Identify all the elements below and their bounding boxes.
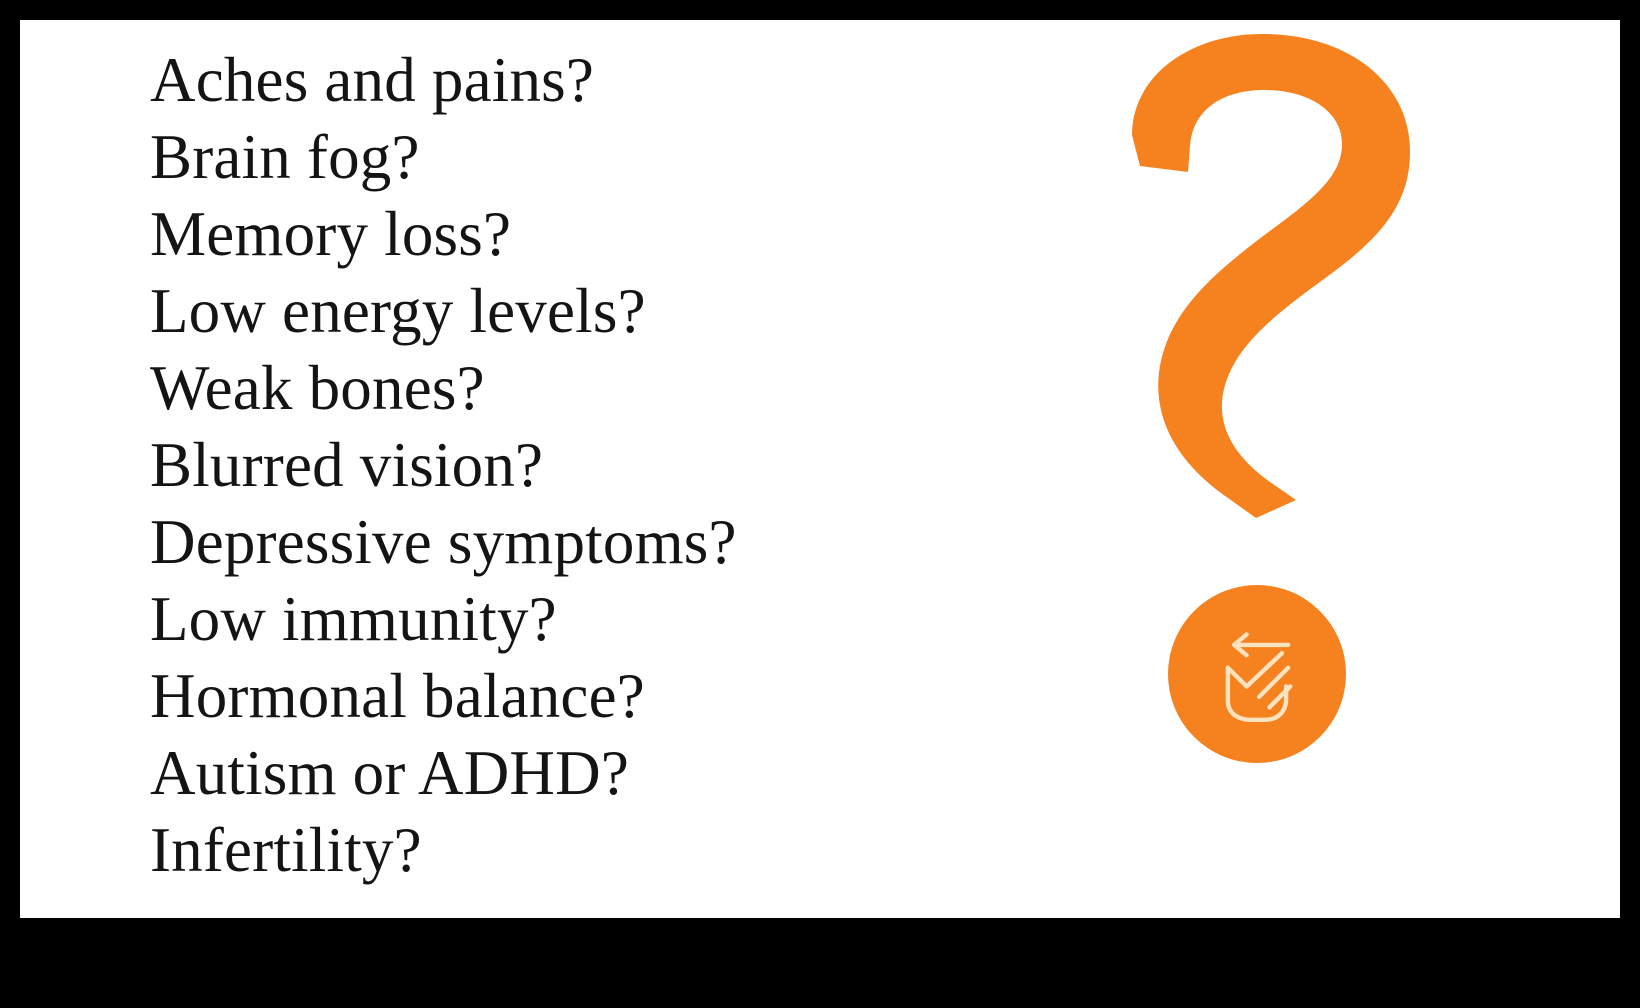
list-item: Infertility? xyxy=(150,812,850,889)
swipe-left-badge[interactable] xyxy=(1168,585,1346,763)
list-item: Blurred vision? xyxy=(150,427,850,504)
question-mark-icon xyxy=(1110,20,1440,520)
list-item: Low energy levels? xyxy=(150,273,850,350)
list-item: Aches and pains? xyxy=(150,42,850,119)
slide-frame: Aches and pains? Brain fog? Memory loss?… xyxy=(0,0,1640,1008)
list-item: Low immunity? xyxy=(150,581,850,658)
list-item: Memory loss? xyxy=(150,196,850,273)
list-item: Brain fog? xyxy=(150,119,850,196)
list-item: Autism or ADHD? xyxy=(150,735,850,812)
symptom-list: Aches and pains? Brain fog? Memory loss?… xyxy=(150,42,850,889)
list-item: Hormonal balance? xyxy=(150,658,850,735)
list-item: Depressive symptoms? xyxy=(150,504,850,581)
graphic-column xyxy=(1080,20,1540,918)
list-item: Weak bones? xyxy=(150,350,850,427)
content-card: Aches and pains? Brain fog? Memory loss?… xyxy=(20,20,1620,918)
